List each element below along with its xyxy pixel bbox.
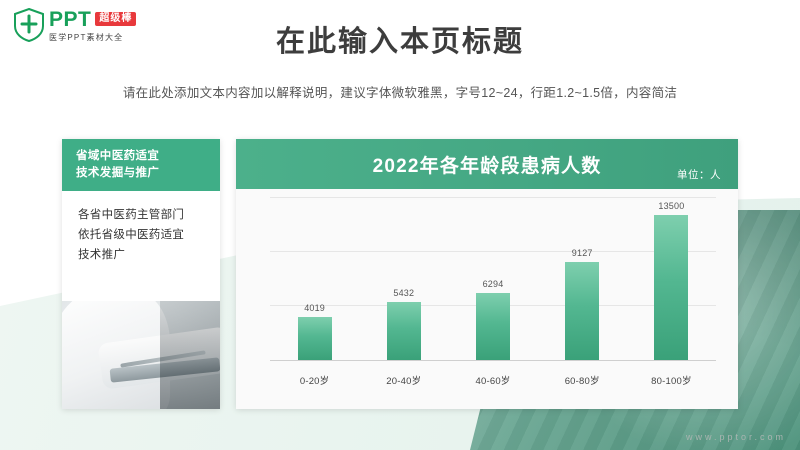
doctor-photo xyxy=(62,301,220,409)
chart-bar-slot: 6294 xyxy=(448,197,537,360)
chart-header: 2022年各年龄段患病人数 单位：人 xyxy=(236,139,738,189)
info-card-body-line3: 技术推广 xyxy=(78,245,204,265)
chart-unit-label: 单位：人 xyxy=(677,167,721,182)
chart-bar-slot: 13500 xyxy=(627,197,716,360)
chart-x-tick-label: 80-100岁 xyxy=(627,373,716,387)
chart-bar xyxy=(565,262,599,360)
photo-shadow-shape xyxy=(160,301,220,409)
chart-x-tick-label: 60-80岁 xyxy=(538,373,627,387)
chart-x-tick-label: 40-60岁 xyxy=(448,373,537,387)
chart-bar xyxy=(387,302,421,360)
info-card-header: 省域中医药适宜 技术发掘与推广 xyxy=(62,139,220,191)
chart-bar xyxy=(476,293,510,360)
footer-url: www.pptor.com xyxy=(686,432,786,442)
chart-bar xyxy=(298,317,332,360)
chart-plot-area: 401954326294912713500 0-20岁20-40岁40-60岁6… xyxy=(236,189,738,409)
info-card-body-line1: 各省中医药主管部门 xyxy=(78,205,204,225)
page-subtitle: 请在此处添加文本内容加以解释说明，建议字体微软雅黑，字号12~24，行距1.2~… xyxy=(0,82,800,101)
page-title: 在此输入本页标题 xyxy=(0,18,800,60)
info-card-body-line2: 依托省级中医药适宜 xyxy=(78,225,204,245)
chart-bar-slot: 5432 xyxy=(359,197,448,360)
chart-bar-value-label: 4019 xyxy=(304,303,325,313)
chart-bar-value-label: 5432 xyxy=(393,288,414,298)
chart-x-tick-label: 20-40岁 xyxy=(359,373,448,387)
chart-bar-value-label: 9127 xyxy=(572,248,593,258)
info-card-body: 各省中医药主管部门 依托省级中医药适宜 技术推广 xyxy=(62,191,220,301)
chart-bar-slot: 9127 xyxy=(538,197,627,360)
chart-card: 2022年各年龄段患病人数 单位：人 401954326294912713500… xyxy=(236,139,738,409)
chart-bars: 401954326294912713500 xyxy=(270,197,716,360)
chart-bar-value-label: 6294 xyxy=(483,279,504,289)
chart-bar-value-label: 13500 xyxy=(658,201,684,211)
chart-bar-slot: 4019 xyxy=(270,197,359,360)
info-card-header-line1: 省域中医药适宜 xyxy=(76,148,206,165)
chart-x-axis xyxy=(270,360,716,361)
chart-title: 2022年各年龄段患病人数 xyxy=(373,151,602,178)
info-card: 省域中医药适宜 技术发掘与推广 各省中医药主管部门 依托省级中医药适宜 技术推广 xyxy=(62,139,220,409)
info-card-header-line2: 技术发掘与推广 xyxy=(76,165,206,182)
chart-x-tick-label: 0-20岁 xyxy=(270,373,359,387)
chart-x-tick-labels: 0-20岁20-40岁40-60岁60-80岁80-100岁 xyxy=(270,373,716,387)
chart-plot: 401954326294912713500 xyxy=(270,197,716,361)
chart-bar xyxy=(654,215,688,360)
